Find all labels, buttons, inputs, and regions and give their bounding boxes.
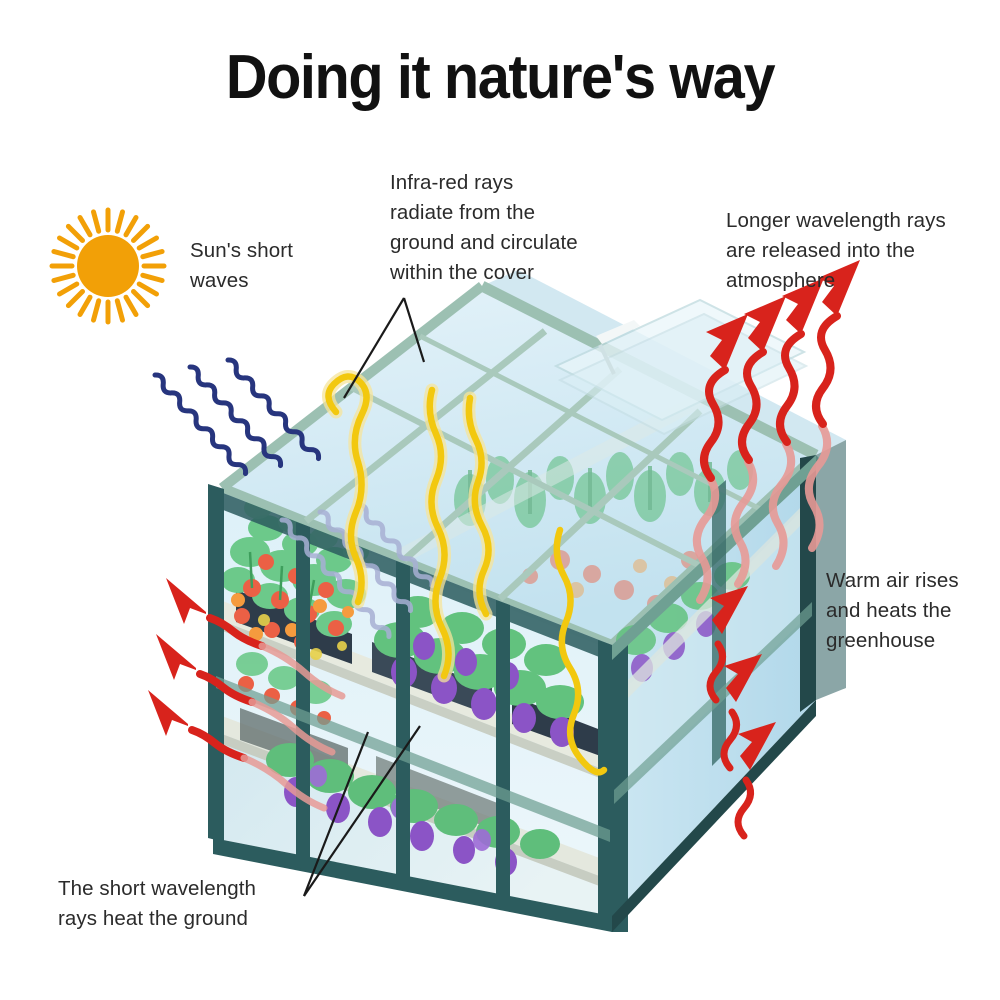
sun-disc (77, 235, 139, 297)
annotation-warm-air-rises: Warm air rises and heats the greenhouse (826, 566, 959, 656)
sun-icon (52, 210, 164, 322)
greenhouse-illustration (0, 0, 1000, 1000)
annotation-infra-red-rays: Infra-red rays radiate from the ground a… (390, 168, 578, 288)
annotation-longer-wavelength: Longer wavelength rays are released into… (726, 206, 946, 296)
annotation-suns-short-waves: Sun's short waves (190, 236, 293, 296)
infographic-canvas: Doing it nature's way (0, 0, 1000, 1000)
annotation-short-wavelength: The short wavelength rays heat the groun… (58, 874, 256, 934)
